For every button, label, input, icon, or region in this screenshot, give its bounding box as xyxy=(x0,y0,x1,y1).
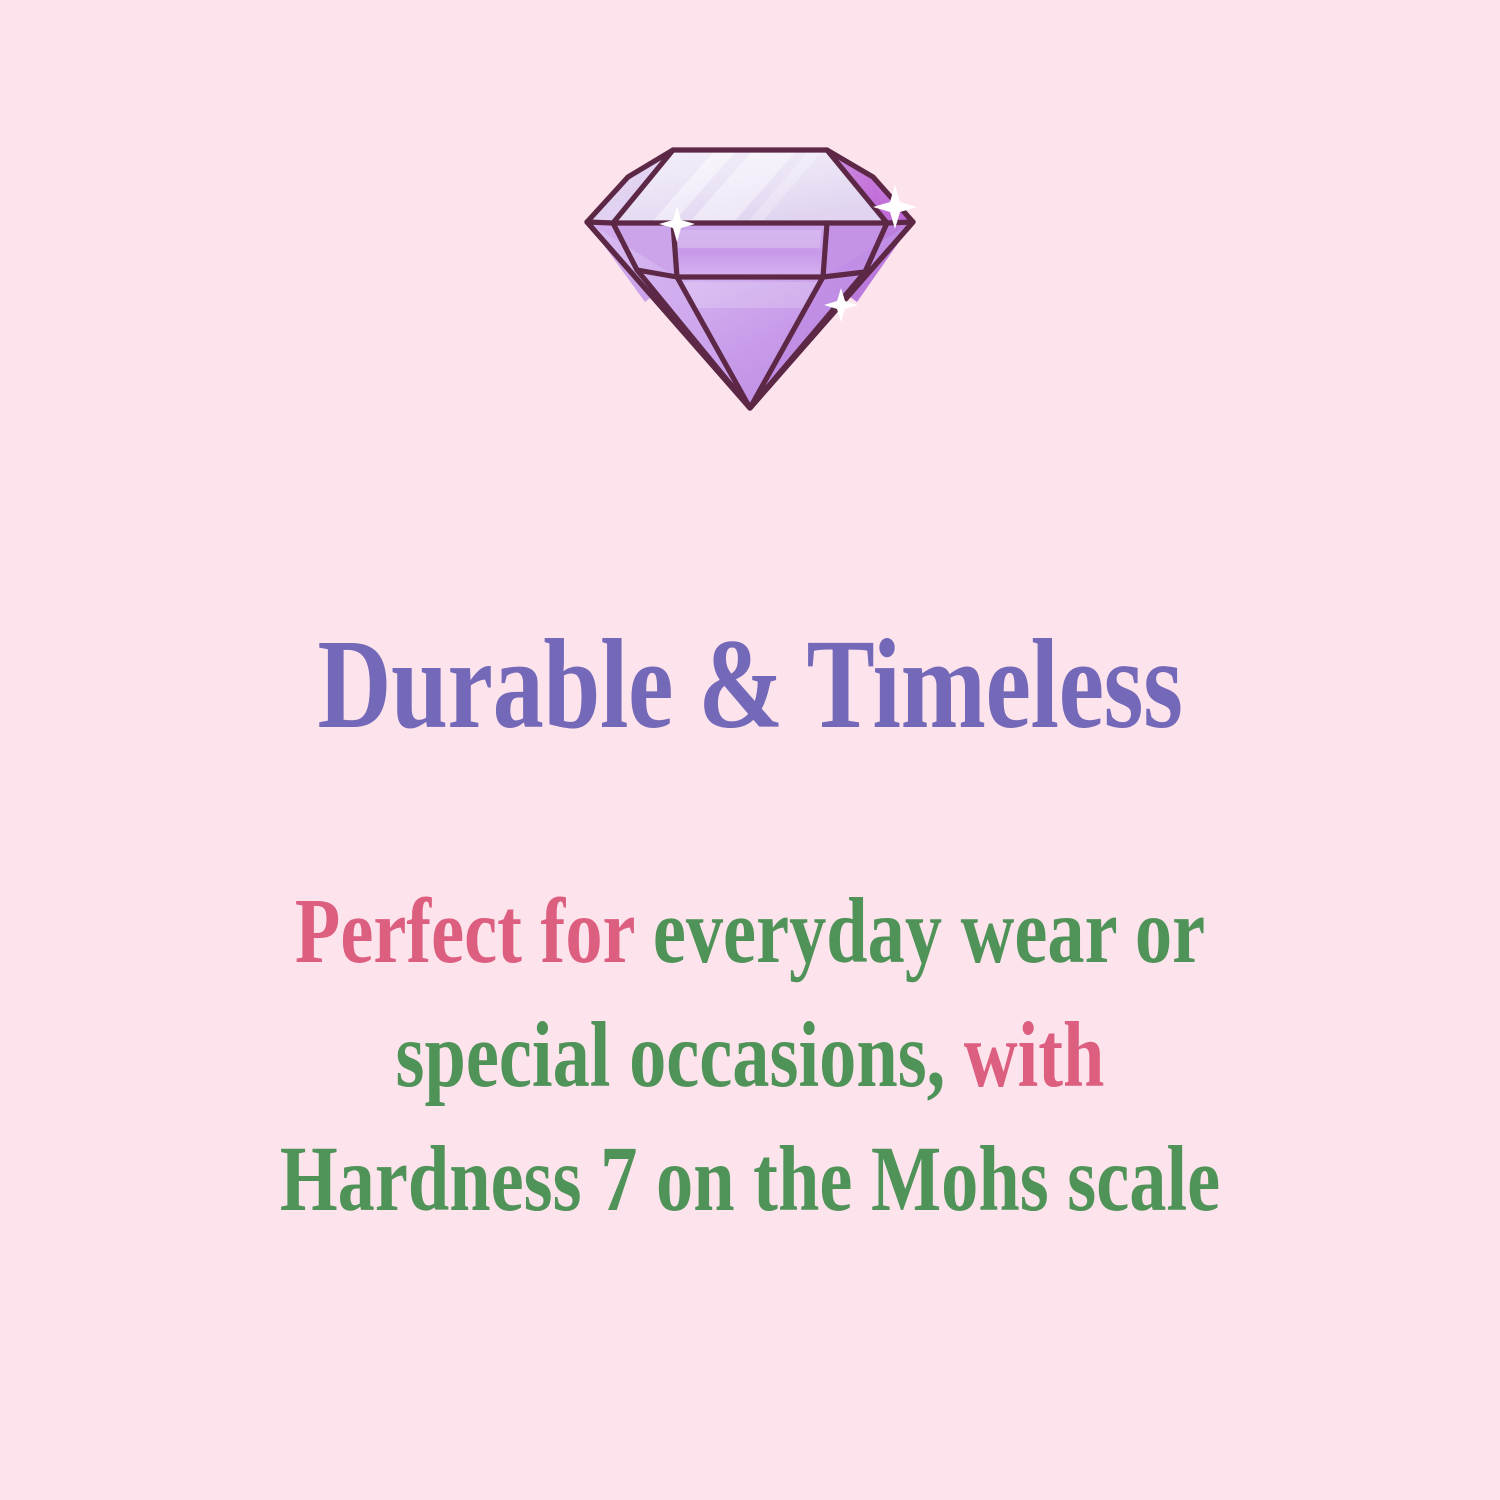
gem-facet-table-shape xyxy=(613,150,887,223)
sparkle-icon xyxy=(873,185,917,229)
gem-band-highlight xyxy=(677,230,821,248)
gem-facet-crown-left-2 xyxy=(587,150,673,223)
body-line: Hardness 7 on the Mohs scale xyxy=(150,1118,1350,1242)
gem-facet-table xyxy=(613,150,887,223)
gem-body xyxy=(587,150,913,408)
gem-facet-crown-left xyxy=(587,150,673,223)
body-segment: with xyxy=(964,1004,1105,1107)
gem-facet-side-left xyxy=(587,222,677,302)
body-segment: everyday wear or xyxy=(653,880,1205,983)
promo-card: Durable & Timeless Perfect for everyday … xyxy=(0,0,1500,1500)
gem-pavilion-highlight xyxy=(683,282,817,308)
sparkle-icon xyxy=(659,206,695,242)
headline-container: Durable & Timeless xyxy=(0,620,1500,748)
gem-facet-crown-right xyxy=(827,150,913,223)
body-line: Perfect for everyday wear or xyxy=(150,870,1350,994)
gem-sparkle-group xyxy=(659,185,917,322)
sparkle-icon xyxy=(824,288,858,322)
gem-shine-group xyxy=(651,150,823,223)
body-segment: special occasions, xyxy=(396,1004,964,1107)
body-line: special occasions, with xyxy=(150,994,1350,1118)
gem-facet-pavilion-right xyxy=(750,222,913,408)
gem-facet-pavilion-center xyxy=(677,277,823,408)
gem-facet-side-right xyxy=(823,222,913,302)
diamond-gem-icon xyxy=(565,130,935,430)
body-segment: Hardness 7 on the Mohs scale xyxy=(280,1128,1220,1231)
body-segment: Perfect for xyxy=(295,880,653,983)
body-copy-container: Perfect for everyday wear or special occ… xyxy=(0,870,1500,1242)
gem-illustration-container xyxy=(0,0,1500,560)
gem-facet-girdle-band xyxy=(673,223,827,277)
gem-outlines xyxy=(587,150,913,408)
gem-facet-pavilion-left xyxy=(587,222,750,408)
gem-facet-girdle-left xyxy=(613,223,677,277)
gem-facet-crown-right-2 xyxy=(827,150,887,223)
page-title: Durable & Timeless xyxy=(150,620,1350,748)
gem-facet-girdle-right xyxy=(823,223,887,277)
